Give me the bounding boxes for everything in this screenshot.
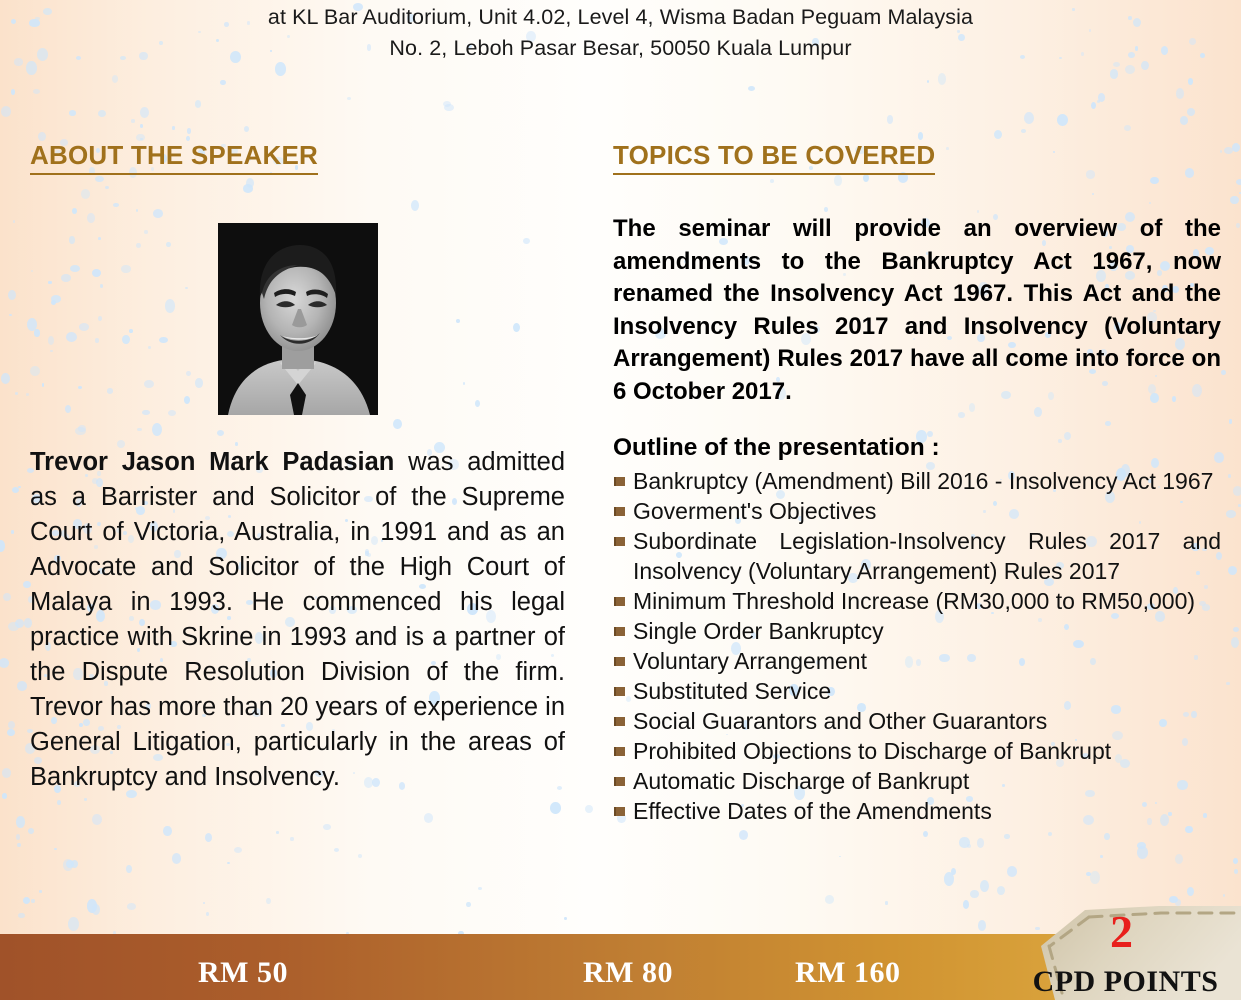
cpd-points-label: CPD POINTS	[1019, 965, 1232, 998]
topic-item: Social Guarantors and Other Guarantors	[613, 706, 1221, 736]
topics-intro-paragraph: The seminar will provide an overview of …	[613, 213, 1221, 408]
bullet-square-icon	[614, 627, 625, 636]
speaker-bio-text: was admitted as a Barrister and Solicito…	[30, 448, 565, 791]
bullet-square-icon	[614, 657, 625, 666]
about-speaker-column: ABOUT THE SPEAKER	[30, 140, 565, 795]
topic-item: Single Order Bankruptcy	[613, 616, 1221, 646]
topic-item: Effective Dates of the Amendments	[613, 796, 1221, 826]
topics-column: TOPICS TO BE COVERED The seminar will pr…	[613, 140, 1221, 826]
bullet-square-icon	[614, 717, 625, 726]
topic-item-label: Single Order Bankruptcy	[633, 618, 884, 644]
topic-item-label: Minimum Threshold Increase (RM30,000 to …	[633, 588, 1195, 614]
fee-pupil: RM 80	[583, 956, 673, 990]
fee-nonmember: RM 160	[795, 956, 900, 990]
venue-line-1: at KL Bar Auditorium, Unit 4.02, Level 4…	[0, 2, 1241, 33]
topics-list: Bankruptcy (Amendment) Bill 2016 - Insol…	[613, 466, 1221, 826]
topic-item: Substituted Service	[613, 676, 1221, 706]
outline-title: Outline of the presentation :	[613, 434, 1221, 462]
topic-item-label: Effective Dates of the Amendments	[633, 798, 992, 824]
bullet-square-icon	[614, 747, 625, 756]
topic-item: Automatic Discharge of Bankrupt	[613, 766, 1221, 796]
topic-item: Goverment's Objectives	[613, 496, 1221, 526]
topic-item-label: Social Guarantors and Other Guarantors	[633, 708, 1047, 734]
speaker-name: Trevor Jason Mark Padasian	[30, 448, 394, 476]
about-speaker-heading: ABOUT THE SPEAKER	[30, 140, 318, 175]
topic-item-label: Automatic Discharge of Bankrupt	[633, 768, 969, 794]
bullet-square-icon	[614, 597, 625, 606]
topic-item-label: Prohibited Objections to Discharge of Ba…	[633, 738, 1111, 764]
cpd-points-badge: 2 CPD POINTS	[1019, 906, 1241, 1000]
bullet-square-icon	[614, 507, 625, 516]
speaker-bio: Trevor Jason Mark Padasian was admitted …	[30, 445, 565, 795]
speaker-photo-wrapper	[30, 223, 565, 420]
bullet-square-icon	[614, 477, 625, 486]
topic-item: Subordinate Legislation-Insolvency Rules…	[613, 526, 1221, 586]
topic-item-label: Subordinate Legislation-Insolvency Rules…	[633, 528, 1221, 584]
speaker-portrait-photo	[218, 223, 378, 415]
bullet-square-icon	[614, 807, 625, 816]
cpd-points-number: 2	[1019, 908, 1224, 956]
flyer-canvas: at KL Bar Auditorium, Unit 4.02, Level 4…	[0, 0, 1241, 1000]
topic-item: Minimum Threshold Increase (RM30,000 to …	[613, 586, 1221, 616]
topic-item-label: Goverment's Objectives	[633, 498, 876, 524]
bullet-square-icon	[614, 777, 625, 786]
topics-heading: TOPICS TO BE COVERED	[613, 140, 935, 175]
topic-item-label: Voluntary Arrangement	[633, 648, 867, 674]
venue-line-2: No. 2, Leboh Pasar Besar, 50050 Kuala Lu…	[0, 33, 1241, 64]
topic-item: Bankruptcy (Amendment) Bill 2016 - Insol…	[613, 466, 1221, 496]
bullet-square-icon	[614, 537, 625, 546]
topic-item: Voluntary Arrangement	[613, 646, 1221, 676]
topic-item: Prohibited Objections to Discharge of Ba…	[613, 736, 1221, 766]
fee-member: RM 50	[198, 956, 288, 990]
venue-header: at KL Bar Auditorium, Unit 4.02, Level 4…	[0, 2, 1241, 64]
topic-item-label: Bankruptcy (Amendment) Bill 2016 - Insol…	[633, 468, 1213, 494]
bullet-square-icon	[614, 687, 625, 696]
topic-item-label: Substituted Service	[633, 678, 831, 704]
